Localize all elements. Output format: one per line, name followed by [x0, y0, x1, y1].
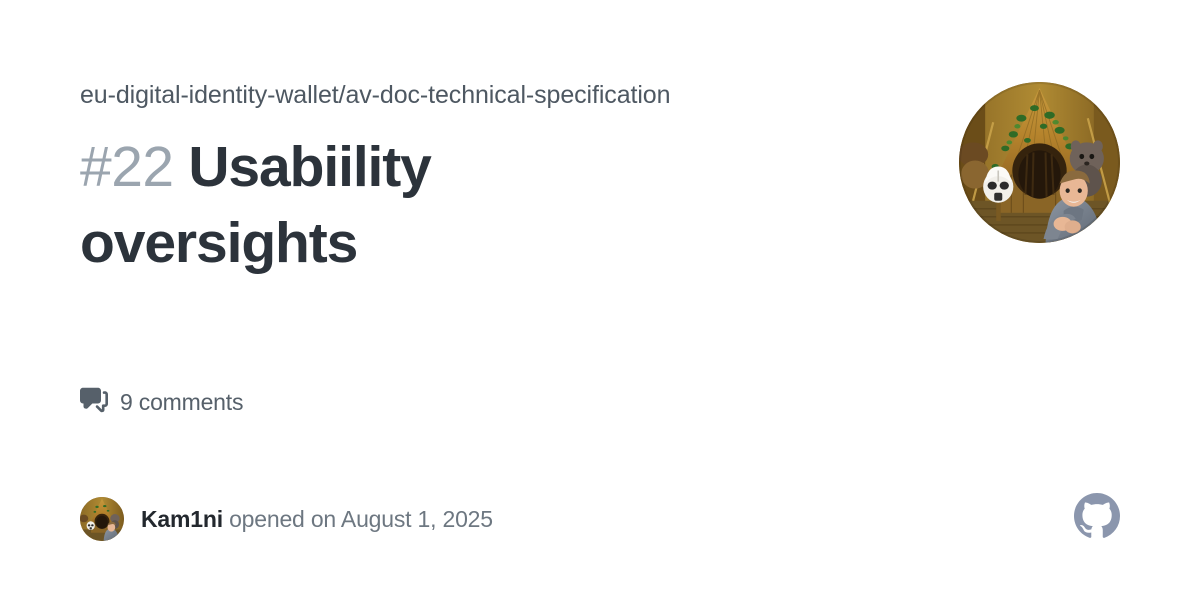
author-avatar-small: [80, 497, 124, 541]
github-mark-icon: [1074, 493, 1120, 544]
avatar-small-image: [80, 497, 124, 541]
repository-name[interactable]: eu-digital-identity-wallet/av-doc-techni…: [80, 80, 700, 110]
issue-number: #22: [80, 135, 174, 199]
comment-discussion-icon: [80, 386, 108, 419]
comments-row: 9 comments: [80, 386, 1120, 419]
card-header: eu-digital-identity-wallet/av-doc-techni…: [80, 80, 1120, 320]
issue-title: #22 Usabiility oversights: [80, 130, 700, 282]
byline: Kam1ni opened on August 1, 2025: [141, 505, 493, 533]
avatar-large-image: [959, 82, 1120, 243]
issue-social-card: eu-digital-identity-wallet/av-doc-techni…: [0, 0, 1200, 600]
author-avatar-large: [959, 82, 1120, 243]
header-text-block: eu-digital-identity-wallet/av-doc-techni…: [80, 80, 700, 320]
author-byline-group: Kam1ni opened on August 1, 2025: [80, 497, 493, 541]
card-footer: Kam1ni opened on August 1, 2025: [80, 493, 1120, 544]
comments-count-label: 9 comments: [120, 388, 243, 416]
issue-action-text: opened on August 1, 2025: [229, 506, 493, 532]
author-username[interactable]: Kam1ni: [141, 506, 223, 532]
